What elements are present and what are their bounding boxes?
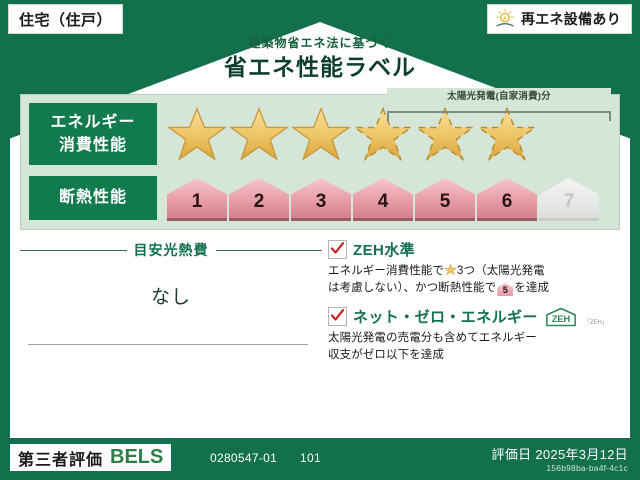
sun-icon: ⚡ (494, 8, 516, 30)
net-zero-title-row: ネット・ゼロ・エネルギー ZEH 「ZEH」 (328, 306, 620, 327)
star-icon (291, 105, 351, 163)
zeh-logo-note: 「ZEH」 (584, 317, 608, 327)
zeh-standard-label: ZEH水準 (353, 239, 415, 260)
net-zero-desc-line2: 収支がゼロ以下を達成 (328, 349, 444, 361)
svg-text:⚡: ⚡ (502, 15, 508, 22)
check-icon (330, 308, 345, 323)
insulation-category-line1: 断熱性能 (59, 188, 127, 208)
evaluation-date-label: 評価日 (492, 447, 532, 462)
net-zero-description: 太陽光発電の売電分も含めてエネルギー収支がゼロ以下を達成 (328, 330, 620, 364)
net-zero-energy-item: ネット・ゼロ・エネルギー ZEH 「ZEH」 太陽光発電の売電分も含めてエネルギ… (328, 306, 620, 364)
insulation-grade-number: 4 (378, 189, 389, 218)
third-party-label: 第三者評価 (18, 446, 103, 470)
net-zero-label: ネット・ゼロ・エネルギー (353, 306, 538, 327)
zeh-desc-part2: は考慮しない）、かつ断熱性能で (328, 282, 496, 294)
utility-cost-block: 目安光熱費 なし (20, 236, 322, 434)
renewable-equipment-badge: ⚡ 再エネ設備あり (487, 4, 632, 34)
renewable-equipment-label: 再エネ設備あり (521, 9, 621, 29)
document-hash: 156b98ba-ba4f-4c1c (546, 463, 628, 473)
label-subtitle: 建築物省エネ法に基づく (10, 36, 630, 51)
check-icon (330, 241, 345, 256)
star-icon-inline (444, 263, 457, 276)
insulation-grade-number: 1 (192, 189, 203, 218)
insulation-grade-inline-number: 5 (497, 283, 513, 298)
insulation-grade-number: 5 (440, 189, 451, 218)
lower-section: 目安光熱費 なし ZEH水準 エネルギー消 (20, 236, 620, 434)
solar-bracket: 太陽光発電(自家消費)分 (387, 99, 611, 121)
evaluation-date-value: 2025年3月12日 (535, 447, 628, 462)
insulation-grade-number: 7 (564, 189, 575, 218)
utility-cost-title: 目安光熱費 (134, 240, 209, 260)
energy-performance-row: エネルギー 消費性能 (21, 101, 619, 167)
net-zero-desc-line1: 太陽光発電の売電分も含めてエネルギー (328, 332, 537, 344)
zeh-desc-part3: を達成 (514, 282, 549, 294)
label-content: 建築物省エネ法に基づく 省エネ性能ラベル エネルギー 消費性能 (10, 22, 630, 438)
zeh-standard-item: ZEH水準 エネルギー消費性能で3つ（太陽光発電は考慮しない）、かつ断熱性能で5… (328, 239, 620, 297)
footer-bar: 第三者評価 BELS 0280547-01 101 評価日 2025年3月12日… (0, 438, 640, 480)
certificate-number: 0280547-01 (210, 451, 277, 465)
energy-category-line1: エネルギー (50, 111, 135, 134)
insulation-grade-7: 7 (539, 178, 599, 218)
insulation-grade-scale: 1 2 3 4 5 (157, 173, 619, 223)
bels-logo-text: BELS (110, 446, 163, 469)
rating-panel: エネルギー 消費性能 (20, 94, 620, 230)
star-icon (229, 105, 289, 163)
zeh-house-logo-icon: ZEH (544, 307, 578, 327)
title-block: 建築物省エネ法に基づく 省エネ性能ラベル (10, 36, 630, 82)
building-type-label: 住宅（住戸） (19, 9, 112, 30)
insulation-grade-5: 5 (415, 178, 475, 218)
zeh-desc-star-count: 3つ（太陽光発電 (457, 265, 545, 277)
insulation-grade-1: 1 (167, 178, 227, 218)
divider-left (20, 250, 127, 251)
insulation-grade-4: 4 (353, 178, 413, 218)
zeh-desc-part1: エネルギー消費性能で (328, 265, 444, 277)
insulation-grade-number: 2 (254, 189, 265, 218)
utility-cost-header: 目安光熱費 (20, 240, 322, 260)
utility-cost-value: なし (20, 282, 322, 309)
star-rating: 太陽光発電(自家消費)分 (157, 101, 619, 167)
insulation-grade-number: 3 (316, 189, 327, 218)
page-title: 省エネ性能ラベル (10, 52, 630, 82)
evaluation-date: 評価日 2025年3月12日 (492, 444, 628, 463)
solar-bracket-line (387, 111, 611, 121)
insulation-performance-row: 断熱性能 1 2 3 (21, 173, 619, 223)
checkbox-checked[interactable] (328, 307, 347, 326)
insulation-grade-3: 3 (291, 178, 351, 218)
building-type-badge: 住宅（住戸） (8, 4, 123, 34)
zeh-standard-description: エネルギー消費性能で3つ（太陽光発電は考慮しない）、かつ断熱性能で5を達成 (328, 263, 620, 297)
divider-right (216, 250, 323, 251)
checkbox-checked[interactable] (328, 240, 347, 259)
room-number: 101 (300, 451, 321, 465)
star-icon (167, 105, 227, 163)
energy-category-box: エネルギー 消費性能 (29, 103, 157, 165)
zeh-standard-title-row: ZEH水準 (328, 239, 620, 260)
zeh-criteria-block: ZEH水準 エネルギー消費性能で3つ（太陽光発電は考慮しない）、かつ断熱性能で5… (322, 236, 620, 434)
insulation-grade-inline: 5 (497, 283, 513, 296)
insulation-grade-6: 6 (477, 178, 537, 218)
utility-cost-underline (28, 344, 308, 345)
energy-label-card: 住宅（住戸） ⚡ 再エネ設備あり 建築物省エネ法に基づく 省エネ性能ラベル (0, 0, 640, 480)
svg-text:ZEH: ZEH (552, 313, 571, 323)
insulation-grade-2: 2 (229, 178, 289, 218)
energy-category-line2: 消費性能 (59, 134, 127, 157)
bels-certification-box: 第三者評価 BELS (10, 444, 171, 471)
solar-bracket-label: 太陽光発電(自家消費)分 (387, 88, 611, 102)
insulation-grade-number: 6 (502, 189, 513, 218)
insulation-category-box: 断熱性能 (29, 176, 157, 220)
